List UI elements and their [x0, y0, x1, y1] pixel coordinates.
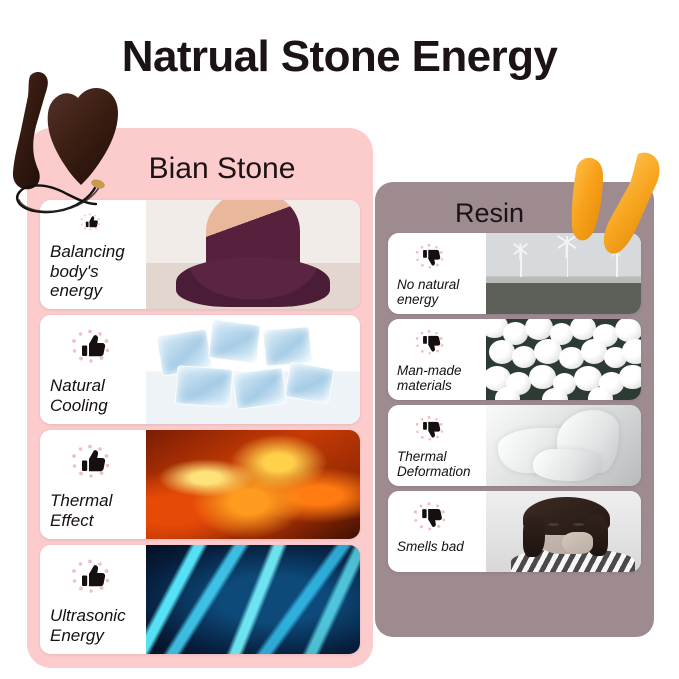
card-label: Smells bad — [397, 539, 482, 555]
fire-embers-photo — [146, 430, 360, 539]
card-text-block: Man-madematerials — [388, 319, 486, 400]
woman-pinching-nose-photo — [486, 491, 641, 572]
thumbs-up-icon — [60, 442, 120, 482]
thumbs-down-icon — [403, 242, 455, 272]
card-label: NaturalCooling — [50, 376, 142, 415]
thumbs-down-icon — [403, 500, 455, 534]
card-label: ThermalEffect — [50, 491, 142, 530]
thumbs-down-icon — [403, 414, 455, 444]
card-label: Balancingbody's energy — [50, 242, 142, 301]
resin-card-list: No naturalenergy — [375, 233, 654, 577]
list-item: ThermalEffect — [40, 430, 360, 539]
card-text-block: ThermalDeformation — [388, 405, 486, 486]
card-label: No naturalenergy — [397, 277, 482, 308]
ice-cubes-photo — [146, 315, 360, 424]
card-label: Man-madematerials — [397, 363, 482, 394]
plastic-pellets-photo — [486, 319, 641, 400]
ultrasonic-waves-photo — [146, 545, 360, 654]
list-item: ThermalDeformation — [388, 405, 641, 486]
card-text-block: NaturalCooling — [40, 315, 146, 424]
card-text-block: ThermalEffect — [40, 430, 146, 539]
list-item: NaturalCooling — [40, 315, 360, 424]
card-text-block: No naturalenergy — [388, 233, 486, 314]
meditation-energy-photo — [146, 200, 360, 309]
resin-gua-sha-tool — [566, 152, 678, 262]
thumbs-up-icon — [60, 557, 120, 597]
list-item: Man-madematerials — [388, 319, 641, 400]
bian-stone-card-list: Balancingbody's energy — [27, 200, 373, 660]
thumbs-up-icon — [60, 327, 120, 367]
card-label: UltrasonicEnergy — [50, 606, 142, 645]
thumbs-down-icon — [403, 328, 455, 358]
bian-stone-gua-sha-tool — [6, 62, 166, 234]
list-item: UltrasonicEnergy — [40, 545, 360, 654]
list-item: Smells bad — [388, 491, 641, 572]
product-comparison-infographic: Natrual Stone Energy Bian Stone — [0, 0, 679, 679]
card-label: ThermalDeformation — [397, 449, 482, 480]
card-text-block: UltrasonicEnergy — [40, 545, 146, 654]
deformed-plastic-photo — [486, 405, 641, 486]
card-text-block: Smells bad — [388, 491, 486, 572]
